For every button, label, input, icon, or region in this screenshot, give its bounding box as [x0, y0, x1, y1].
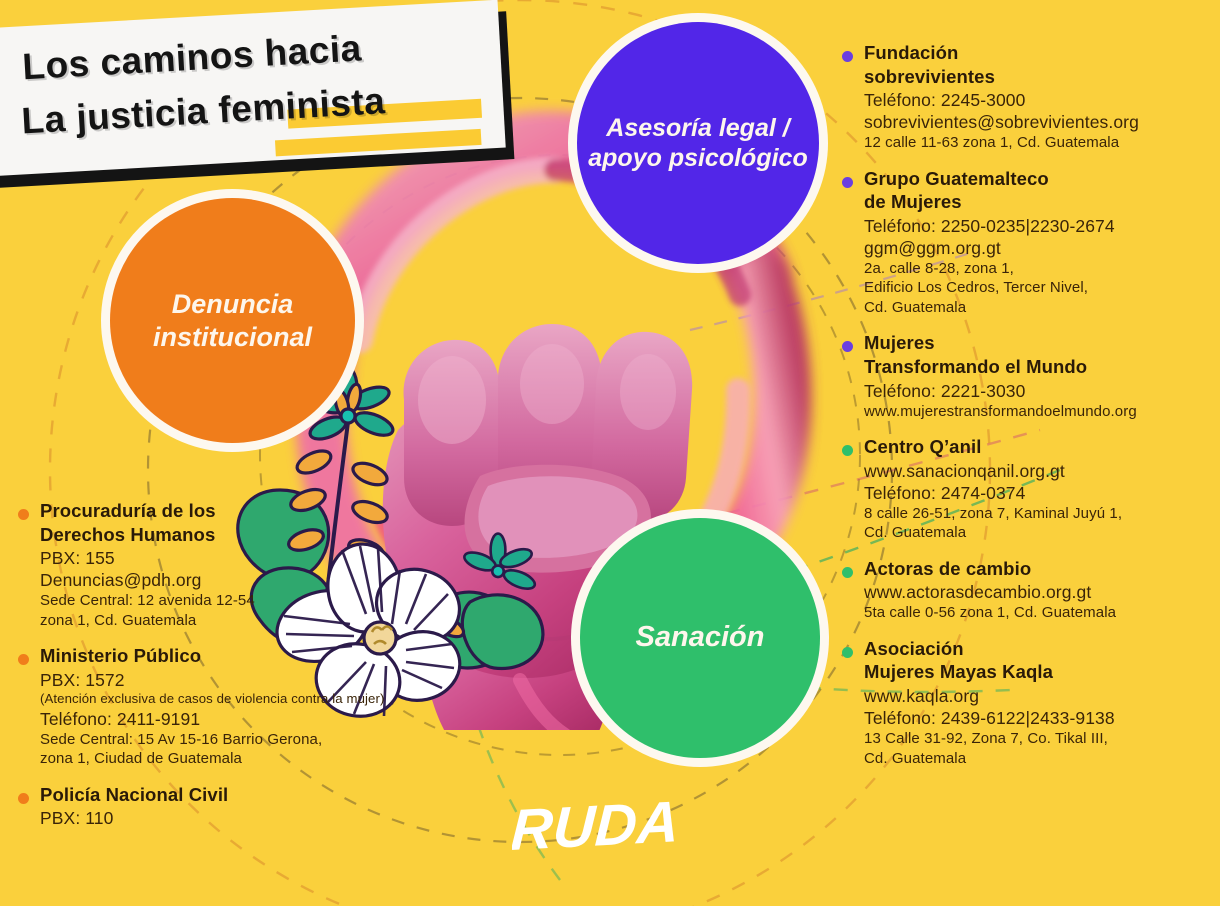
- contact-name-line-2: Transformando el Mundo: [864, 356, 1220, 379]
- contact-detail-line: zona 1, Cd. Guatemala: [40, 611, 414, 631]
- category-bubble-denuncia-institucional[interactable]: Denuncia institucional: [110, 198, 355, 443]
- contact-entry: Policía Nacional CivilPBX: 110: [14, 784, 414, 830]
- contact-detail-line: 2a. calle 8-28, zona 1,: [864, 259, 1220, 279]
- contact-detail-line: zona 1, Ciudad de Guatemala: [40, 749, 414, 769]
- contact-detail-line: Cd. Guatemala: [864, 523, 1220, 543]
- contact-name-line-2: Mujeres Mayas Kaqla: [864, 661, 1220, 684]
- contact-detail-line: Sede Central: 15 Av 15-16 Barrio Gerona,: [40, 730, 414, 750]
- contact-detail-line: www.actorasdecambio.org.gt: [864, 581, 1220, 603]
- contact-detail-line: Teléfono: 2221-3030: [864, 380, 1220, 402]
- category-bubble-asesoria-legal[interactable]: Asesoría legal / apoyo psicológico: [577, 22, 819, 264]
- contact-entry: Procuraduría de losDerechos HumanosPBX: …: [14, 500, 414, 630]
- page-title-line-1: Los caminos hacia: [21, 27, 362, 88]
- contact-name-line-1: Grupo Guatemalteco: [864, 168, 1220, 191]
- poster-canvas: Los caminos hacia La justicia feminista …: [0, 0, 1220, 906]
- contact-detail-line: Sede Central: 12 avenida 12-54: [40, 591, 414, 611]
- contact-bullet-icon: [842, 341, 853, 352]
- contact-detail-line: Teléfono: 2439-6122|2433-9138: [864, 707, 1220, 729]
- bubble-sanacion-line-1: Sanación: [636, 620, 765, 655]
- contact-detail-line: 8 calle 26-51, zona 7, Kaminal Juyú 1,: [864, 504, 1220, 524]
- contact-detail-line: PBX: 155: [40, 547, 414, 569]
- contact-detail-line: (Atención exclusiva de casos de violenci…: [40, 691, 414, 708]
- contacts-column-left: Procuraduría de losDerechos HumanosPBX: …: [14, 500, 414, 844]
- contact-detail-line: Teléfono: 2245-3000: [864, 89, 1220, 111]
- ruda-logo: RUDA: [512, 792, 722, 872]
- contact-name-line-1: Policía Nacional Civil: [40, 784, 414, 807]
- contact-name-line-2: Derechos Humanos: [40, 524, 414, 547]
- contact-bullet-icon: [842, 177, 853, 188]
- contact-detail-line: 12 calle 11-63 zona 1, Cd. Guatemala: [864, 133, 1220, 153]
- contact-name-line-2: sobrevivientes: [864, 66, 1220, 89]
- page-title-line-2: La justicia feminista: [20, 80, 386, 142]
- contact-detail-line: Cd. Guatemala: [864, 749, 1220, 769]
- contact-detail-line: Teléfono: 2474-0374: [864, 482, 1220, 504]
- contact-detail-line: Denuncias@pdh.org: [40, 569, 414, 591]
- contact-entry: Grupo Guatemaltecode MujeresTeléfono: 22…: [838, 168, 1220, 318]
- contact-bullet-icon: [18, 793, 29, 804]
- contact-entry: Actoras de cambiowww.actorasdecambio.org…: [838, 558, 1220, 623]
- contacts-column-right: FundaciónsobrevivientesTeléfono: 2245-30…: [838, 42, 1220, 783]
- contact-name-line-1: Asociación: [864, 638, 1220, 661]
- bubble-asesoria-line-1: Asesoría legal /: [588, 113, 807, 144]
- contact-entry: Ministerio PúblicoPBX: 1572(Atención exc…: [14, 645, 414, 769]
- contact-bullet-icon: [842, 445, 853, 456]
- page-title-banner: Los caminos hacia La justicia feminista: [0, 0, 506, 176]
- contact-name-line-1: Centro Q’anil: [864, 436, 1220, 459]
- bubble-denuncia-line-2: institucional: [153, 321, 312, 354]
- contact-bullet-icon: [842, 567, 853, 578]
- contact-entry: MujeresTransformando el MundoTeléfono: 2…: [838, 332, 1220, 421]
- category-bubble-sanacion[interactable]: Sanación: [580, 518, 820, 758]
- contact-detail-line: ggm@ggm.org.gt: [864, 237, 1220, 259]
- contact-name-line-1: Mujeres: [864, 332, 1220, 355]
- contact-detail-line: www.mujerestransformandoelmundo.org: [864, 402, 1220, 422]
- contact-detail-line: 13 Calle 31-92, Zona 7, Co. Tikal III,: [864, 729, 1220, 749]
- contact-bullet-icon: [842, 647, 853, 658]
- contact-name-line-1: Fundación: [864, 42, 1220, 65]
- contact-entry: Centro Q’anilwww.sanacionqanil.org.gtTel…: [838, 436, 1220, 543]
- contact-detail-line: sobrevivientes@sobrevivientes.org: [864, 111, 1220, 133]
- contact-bullet-icon: [18, 509, 29, 520]
- contact-detail-line: Teléfono: 2250-0235|2230-2674: [864, 215, 1220, 237]
- title-sheet: Los caminos hacia La justicia feminista: [0, 0, 506, 176]
- bubble-denuncia-line-1: Denuncia: [153, 288, 312, 321]
- contact-name-line-1: Procuraduría de los: [40, 500, 414, 523]
- bubble-asesoria-line-2: apoyo psicológico: [588, 143, 807, 174]
- contact-name-line-1: Actoras de cambio: [864, 558, 1220, 581]
- contact-detail-line: PBX: 110: [40, 807, 414, 829]
- contact-detail-line: Teléfono: 2411-9191: [40, 708, 414, 730]
- contact-detail-line: www.kaqla.org: [864, 685, 1220, 707]
- contact-detail-line: 5ta calle 0-56 zona 1, Cd. Guatemala: [864, 603, 1220, 623]
- ruda-logo-text: RUDA: [512, 792, 681, 863]
- contact-detail-line: PBX: 1572: [40, 669, 414, 691]
- contact-name-line-1: Ministerio Público: [40, 645, 414, 668]
- contact-bullet-icon: [842, 51, 853, 62]
- contact-entry: FundaciónsobrevivientesTeléfono: 2245-30…: [838, 42, 1220, 153]
- contact-detail-line: www.sanacionqanil.org.gt: [864, 460, 1220, 482]
- contact-detail-line: Cd. Guatemala: [864, 298, 1220, 318]
- contact-bullet-icon: [18, 654, 29, 665]
- contact-entry: AsociaciónMujeres Mayas Kaqlawww.kaqla.o…: [838, 638, 1220, 768]
- contact-detail-line: Edificio Los Cedros, Tercer Nivel,: [864, 278, 1220, 298]
- contact-name-line-2: de Mujeres: [864, 191, 1220, 214]
